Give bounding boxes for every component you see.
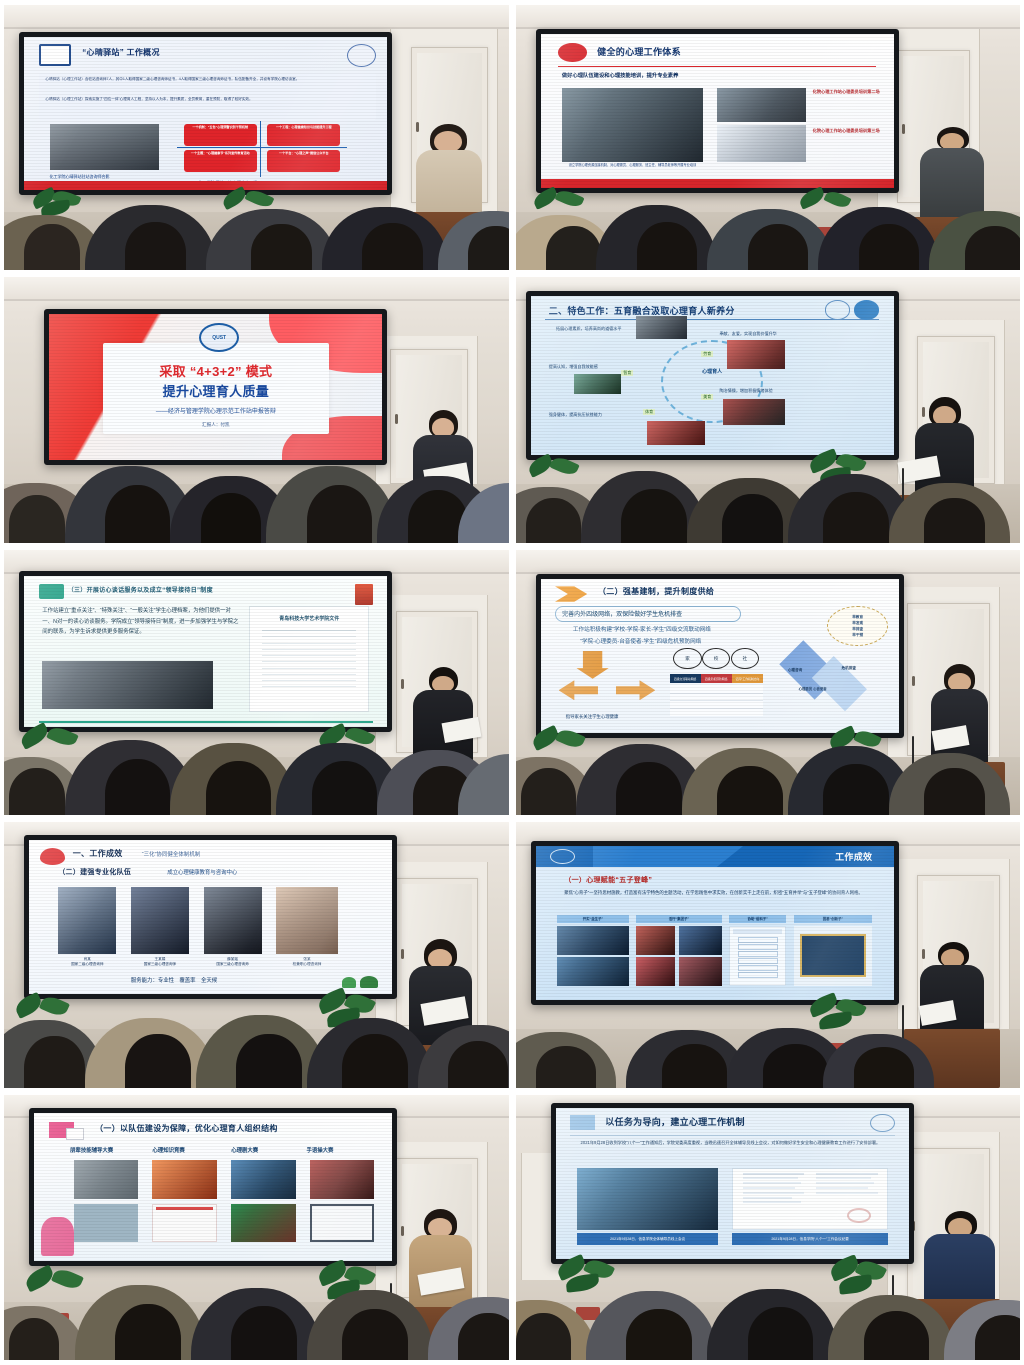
podium [899, 495, 990, 543]
section-marker [39, 584, 64, 599]
slide-title: “心晴驿站” 工作概况 [82, 47, 160, 58]
column-tag-2: 活行“集团子” [636, 915, 722, 923]
panel-10-photo: 以任务为导向，建立心理工作机制 2021年9月28日收到学校“八个一”工作通知后… [516, 1095, 1021, 1360]
panel-4-photo: 二、特色工作：五育融合汲取心理育人新养分 心理育人 德育 智育 体育 美育 劳育… [516, 277, 1021, 542]
microphone [892, 1275, 894, 1307]
slide-content: 健全的心理工作体系 做好心理队伍建设和心理技能培训，提升专业素养 化院心理工作站… [541, 34, 894, 188]
slide-title: （一）以队伍建设为保障，优化心理育人组织结构 [95, 1123, 278, 1134]
flowchart-card [729, 926, 786, 986]
note-1: 拓展心理素质，培养高尚的道德水平 [556, 326, 622, 332]
badge-item-3: 早排查 [852, 627, 863, 632]
square-marker [570, 1115, 595, 1130]
badge-item-2: 早发现 [852, 621, 863, 626]
slide-title: （三）开展访心谈话服务以及成立“领导接待日”制度 [68, 585, 213, 594]
slide-header: 工作成效 [835, 850, 872, 863]
panel-7-photo: 一、工作成效 “三化”协同健全体制机制 （二）建强专业化队伍 成立心理健康教育与… [4, 822, 509, 1087]
podium [894, 217, 995, 270]
podium [914, 762, 1005, 815]
caption-bar-1: 2021年9月28日，信息学院全体辅导员线上会议 [577, 1233, 718, 1245]
person-2-cert: 国家三级心理咨询师 [131, 962, 189, 967]
logo-text: QUST [201, 325, 237, 350]
portrait-3 [204, 887, 262, 955]
badge-item-1: 早教育 [852, 615, 863, 620]
presentation-screen: 一、工作成效 “三化”协同健全体制机制 （二）建强专业化队伍 成立心理健康教育与… [24, 835, 397, 999]
presentation-screen: 健全的心理工作体系 做好心理队伍建设和心理技能培训，提升专业素养 化院心理工作站… [536, 29, 899, 193]
photo-contest-2 [152, 1160, 216, 1199]
slide-footer: 服务能力：专业性 覆盖率 全天候 [131, 976, 217, 984]
label-screening: 危机排查 [842, 666, 856, 671]
slide-title: （二）强基建制，提升制度供给 [598, 586, 714, 597]
document-image: 青岛科技大学艺术学院文件 [249, 606, 369, 712]
slide-title: 健全的心理工作体系 [597, 45, 681, 58]
portrait-2 [131, 887, 189, 955]
caption-bar-2: 2021年9月28日，信息学院“八个一”工作会议纪要 [732, 1233, 887, 1245]
slide-subtitle-note: 成立心理健康教育与咨询中心 [167, 868, 237, 876]
bullet-2: 心晴驿站（心理工作站）探索实施了“四位一体”心理育人工程，坚持以人为本，提升素质… [45, 97, 366, 103]
potted-plant-left [526, 458, 587, 508]
slide-title: 以任务为导向，建立心理工作机制 [605, 1115, 745, 1128]
presentation-screen: QUST 采取 “4+3+2” 模式 提升心理育人质量 ——经济与管理学院心理示… [44, 309, 387, 465]
quadrant-2-label: 一个工程：心理健康知识与技能提升工程 [268, 125, 339, 145]
potted-plant-left [14, 997, 75, 1053]
presentation-screen: （三）开展访心谈话服务以及成立“领导接待日”制度 工作站建立“重点关注”、“特殊… [19, 571, 392, 732]
note-4: 奉献、友爱，实现自我价值升华 [719, 331, 776, 337]
presentation-screen: 以任务为导向，建立心理工作机制 2021年9月28日收到学校“八个一”工作通知后… [551, 1103, 914, 1264]
footer-caption: 设立学院心理资源连接机制，对心理委员、心理服务、班主任、辅导员老师等开展专业培训 [562, 163, 703, 167]
training-photo-3 [717, 125, 805, 162]
potted-plant-right [317, 1264, 383, 1328]
slide-title: 一、工作成效 [73, 848, 123, 859]
quadrant-4: 一个平台：“心理之声”微信公众平台 [267, 150, 340, 172]
potted-plant-right [317, 992, 383, 1056]
training-photo-2 [717, 88, 805, 122]
slide-subtitle: （二）建强专业化队伍 [58, 867, 131, 877]
meeting-screenshot-grid [577, 1168, 718, 1230]
ring-she-label: 社 [732, 649, 759, 669]
photo-contest-3 [231, 1160, 295, 1199]
item-1: 朋辈技能辅导大赛 [70, 1146, 113, 1154]
note-icon [39, 44, 72, 66]
slide-content: （一）以队伍建设为保障，优化心理育人组织结构 朋辈技能辅导大赛 心理知识竞赛 心… [34, 1113, 392, 1262]
axis-vertical [260, 121, 261, 176]
university-logo [347, 44, 376, 67]
photo-1 [557, 926, 629, 955]
potted-plant-left [29, 191, 90, 239]
podium [398, 212, 499, 270]
portrait-4 [276, 887, 338, 955]
title-line-2: 提升心理育人质量 [163, 381, 269, 400]
portrait-1 [58, 887, 116, 955]
photo-contest-4 [310, 1160, 374, 1199]
table-header-1: 四级交流联动网络 [670, 674, 701, 683]
potted-plant-right [317, 728, 383, 781]
slide-content: QUST 采取 “4+3+2” 模式 提升心理育人质量 ——经济与管理学院心理示… [49, 314, 382, 460]
item-3: 心理剧大赛 [231, 1146, 258, 1154]
bullet-1: 心晴驿站（心理工作站）含驻站咨询师7人，其中1人取得国家二级心理咨询师证书，4人… [45, 77, 366, 83]
title-rule [558, 66, 876, 67]
slide-content: 以任务为导向，建立心理工作机制 2021年9月28日收到学校“八个一”工作通知后… [556, 1108, 909, 1259]
photo-zhiyu [574, 374, 621, 395]
slide-content: 二、特色工作：五育融合汲取心理育人新养分 心理育人 德育 智育 体育 美育 劳育… [531, 296, 894, 455]
center-label: 心理育人 [690, 369, 734, 375]
microphone [912, 736, 914, 768]
node-laoyu: 劳育 [701, 351, 713, 357]
table-header-3: “四早”工作机制方向 [732, 674, 763, 683]
potted-plant-left [556, 1259, 622, 1320]
certificate-card [794, 926, 873, 986]
slide-body: 工作站建立“重点关注”、“特殊关注”、“一般关注”学生心理档案，为他们提供一对一… [42, 606, 238, 637]
mascot-icon [41, 1217, 73, 1256]
title-line-1: 采取 “4+3+2” 模式 [159, 361, 272, 380]
document-title: 青岛科技大学艺术学院文件 [260, 615, 359, 622]
title-rule [570, 1135, 895, 1136]
ring-jia: 家 [673, 648, 702, 670]
presenter [408, 410, 479, 527]
photo-tiyu [647, 421, 705, 445]
person-4-cert: 校兼职心理咨询师 [276, 962, 338, 967]
cert-4 [310, 1204, 374, 1243]
photo-3 [636, 926, 675, 955]
chevron-icon [558, 43, 586, 61]
column-tag-3: 协助“组科子” [729, 915, 786, 923]
panel-8-photo: 工作成效 （一）心理赋能“五子登峰” 聚焦“心育子”一坚持思材施教，打造富有法学… [516, 822, 1021, 1087]
photo-deyu [636, 316, 687, 338]
photo-laoyu [727, 340, 785, 369]
presenter [408, 667, 479, 778]
potted-plant-right [808, 453, 874, 511]
quadrant-3: 一个主题：“心理健康节”系列宣传教育活动 [184, 150, 257, 172]
table-body [670, 685, 763, 716]
column-tag-2-label: 活行“集团子” [636, 915, 722, 923]
slide-subtitle: 做好心理队伍建设和心理技能培训，提升专业素养 [562, 71, 679, 79]
presentation-screen: “心晴驿站” 工作概况 心晴驿站（心理工作站）含驻站咨询师7人，其中1人取得国家… [19, 32, 392, 196]
bottom-caption: 指导家长关注学生心理健康 [566, 714, 619, 720]
presentation-screen: 二、特色工作：五育融合汲取心理育人新养分 心理育人 德育 智育 体育 美育 劳育… [526, 291, 899, 460]
slide-bullet: 2021年9月28日收到学校“八个一”工作通知后，学院党委高度重视，当晚迅速召开… [581, 1139, 885, 1147]
potted-plant-right [828, 1259, 894, 1323]
node-zhiyu: 智育 [621, 370, 633, 376]
square-outline-marker [66, 1128, 84, 1140]
slide-subtitle: ——经济与管理学院心理示范工作站申报答辩 [156, 406, 276, 415]
caption-1-label: 2021年9月28日，信息学院全体辅导员线上会议 [577, 1233, 718, 1245]
presenter [403, 939, 479, 1061]
panel-3-photo: QUST 采取 “4+3+2” 模式 提升心理育人质量 ——经济与管理学院心理示… [4, 277, 509, 542]
ring-jia-label: 家 [674, 649, 701, 669]
potted-plant-left [531, 730, 592, 783]
quadrant-4-label: 一个平台：“心理之声”微信公众平台 [268, 151, 339, 171]
slide-content: （三）开展访心谈话服务以及成立“领导接待日”制度 工作站建立“重点关注”、“特殊… [24, 576, 387, 727]
slide-footer-rule [39, 721, 373, 723]
globe-icon [854, 300, 879, 319]
note-5: 陶冶情操，增加积极情绪体验 [719, 388, 772, 394]
column-tag-4-label: 固基“创新子” [794, 915, 873, 923]
item-2: 心理知识竞赛 [152, 1146, 184, 1154]
label-session-3: 化院心理工作站心理委员培训第三场 [809, 128, 883, 134]
four-early-badge: 早教育 早发现 早排查 早干预 [827, 606, 888, 646]
column-tag-1: 开实“益生子” [557, 915, 629, 923]
microphone [902, 468, 904, 505]
cert-2 [152, 1204, 216, 1243]
heart-icon [40, 848, 65, 865]
note-3: 强身健体，提高抗压抗挫能力 [549, 412, 602, 418]
person-1-cert: 国家二级心理咨询师 [58, 962, 116, 967]
tree-decor-1 [360, 976, 378, 988]
panel-9-photo: （一）以队伍建设为保障，优化心理育人组织结构 朋辈技能辅导大赛 心理知识竞赛 心… [4, 1095, 509, 1360]
slide-content: 工作成效 （一）心理赋能“五子登峰” 聚焦“心育子”一坚持思材施教，打造富有法学… [536, 846, 894, 1000]
axis-horizontal [177, 147, 348, 148]
potted-plant-left [19, 728, 85, 781]
tree-decor-2 [342, 977, 357, 988]
panel-6-photo: （二）强基建制，提升制度供给 完善内外四级网络，双保险做好学生危机排查 工作站积… [516, 550, 1021, 815]
column-tag-4: 固基“创新子” [794, 915, 873, 923]
photo-6 [679, 957, 722, 986]
cert-1 [74, 1204, 138, 1243]
quadrant-1: 一个机制：“五色”心理预警识别干预机制 [184, 124, 257, 146]
column-tag-3-label: 协助“组科子” [729, 915, 786, 923]
presentation-screen: （二）强基建制，提升制度供给 完善内外四级网络，双保险做好学生危机排查 工作站积… [536, 574, 904, 738]
network-line-2: “学院-心理委员-台音使者-学生”四级危机预防网络 [580, 637, 701, 645]
potted-plant-left [531, 191, 592, 239]
presentation-screen: （一）以队伍建设为保障，优化心理育人组织结构 朋辈技能辅导大赛 心理知识竞赛 心… [29, 1108, 397, 1267]
potted-plant-left [24, 1270, 90, 1326]
presenter-label: 汇报人：付凯 [202, 422, 230, 428]
node-tiyu: 体育 [643, 409, 655, 415]
slide-content: “心晴驿站” 工作概况 心晴驿站（心理工作站）含驻站咨询师7人，其中1人取得国家… [24, 37, 387, 191]
activity-photo-grid [42, 661, 213, 709]
label-committee: 心理委员 心音使者 [799, 686, 827, 691]
photo-caption: 化工学院心晴驿站驻站咨询师合影 [50, 174, 110, 180]
caption-2-label: 2021年9月28日，信息学院“八个一”工作会议纪要 [732, 1233, 887, 1245]
podium [398, 1307, 494, 1360]
table-header-2: 四级危机预防网络 [701, 674, 732, 683]
university-logo: QUST [199, 323, 239, 352]
ceiling [4, 5, 509, 29]
slide-content: 一、工作成效 “三化”协同健全体制机制 （二）建强专业化队伍 成立心理健康教育与… [29, 840, 392, 994]
item-4: 手语操大赛 [306, 1146, 333, 1154]
university-logo [825, 300, 850, 319]
podium [413, 1045, 499, 1087]
label-counsel: 心理咨询 [788, 668, 802, 673]
panel-2-photo: 健全的心理工作体系 做好心理队伍建设和心理技能培训，提升专业素养 化院心理工作站… [516, 5, 1021, 270]
ring-xiao: 校 [702, 648, 731, 670]
slide-subtitle: 完善内外四级网络，双保险做好学生危机排查 [562, 609, 682, 618]
photo-meiyu [723, 399, 785, 424]
microphone [902, 1005, 904, 1040]
potted-plant-right [798, 191, 859, 239]
panel-1-photo: “心晴驿站” 工作概况 心晴驿站（心理工作站）含驻站咨询师7人，其中1人取得国家… [4, 5, 509, 270]
university-logo [870, 1114, 895, 1132]
photo-contest-1 [74, 1160, 138, 1199]
arrow-right [616, 680, 655, 700]
cert-3 [231, 1204, 295, 1243]
column-tag-1-label: 开实“益生子” [557, 915, 629, 923]
node-meiyu: 美育 [701, 394, 713, 400]
network-line-1: 工作站积极构建“学校-学院-家长-学生”四级交流联动网络 [573, 625, 711, 633]
group-photo [50, 124, 159, 170]
slide-body: 聚焦“心育子”一坚持思材施教，打造富有法学特色的主题活动，在学思践悟中求实效，在… [564, 889, 865, 897]
person-3-cert: 国家三级心理咨询师 [204, 962, 262, 967]
ring-she: 社 [731, 648, 760, 670]
potted-plant-right [828, 730, 889, 783]
arrow-left [559, 680, 598, 700]
podium [899, 1299, 1000, 1360]
bullet-block: 心晴驿站（心理工作站）含驻站咨询师7人，其中1人取得国家二级心理咨询师证书，4人… [39, 73, 377, 119]
scroll-icon [355, 584, 373, 605]
slide-title-note: “三化”协同健全体制机制 [142, 850, 201, 858]
photo-4 [679, 926, 722, 955]
note-2: 提高认知，增强自我效能感 [549, 364, 598, 370]
arrow-down [576, 651, 608, 679]
ring-xiao-label: 校 [703, 649, 730, 669]
panel-5-photo: （三）开展访心谈话服务以及成立“领导接待日”制度 工作站建立“重点关注”、“特殊… [4, 550, 509, 815]
slide-content: （二）强基建制，提升制度供给 完善内外四级网络，双保险做好学生危机排查 工作站积… [541, 579, 899, 733]
potted-plant-right [808, 997, 874, 1055]
podium [403, 765, 494, 815]
slide-title: 二、特色工作：五育融合汲取心理育人新养分 [549, 304, 735, 317]
podium [904, 1029, 1000, 1087]
training-photo-1 [562, 88, 703, 162]
photo-collage-grid: “心晴驿站” 工作概况 心晴驿站（心理工作站）含驻站咨询师7人，其中1人取得国家… [0, 0, 1024, 1365]
document-scan [732, 1168, 887, 1230]
slide-title: （一）心理赋能“五子登峰” [564, 875, 652, 885]
presentation-screen: 工作成效 （一）心理赋能“五子登峰” 聚焦“心育子”一坚持思材施教，打造富有法学… [531, 841, 899, 1005]
table-header-row: 四级交流联动网络 四级危机预防网络 “四早”工作机制方向 [670, 674, 763, 683]
quadrant-2: 一个工程：心理健康知识与技能提升工程 [267, 124, 340, 146]
chevron-icon [555, 586, 587, 601]
quadrant-1-label: 一个机制：“五色”心理预警识别干预机制 [185, 125, 256, 145]
photo-5 [636, 957, 675, 986]
badge-item-4: 早干预 [852, 633, 863, 638]
slide-footer-bar [24, 181, 387, 190]
quadrant-3-label: 一个主题：“心理健康节”系列宣传教育活动 [185, 151, 256, 171]
potted-plant-center [221, 191, 282, 239]
photo-2 [557, 957, 629, 986]
label-session-2: 化院心理工作站心理委员培训第二场 [809, 89, 883, 95]
